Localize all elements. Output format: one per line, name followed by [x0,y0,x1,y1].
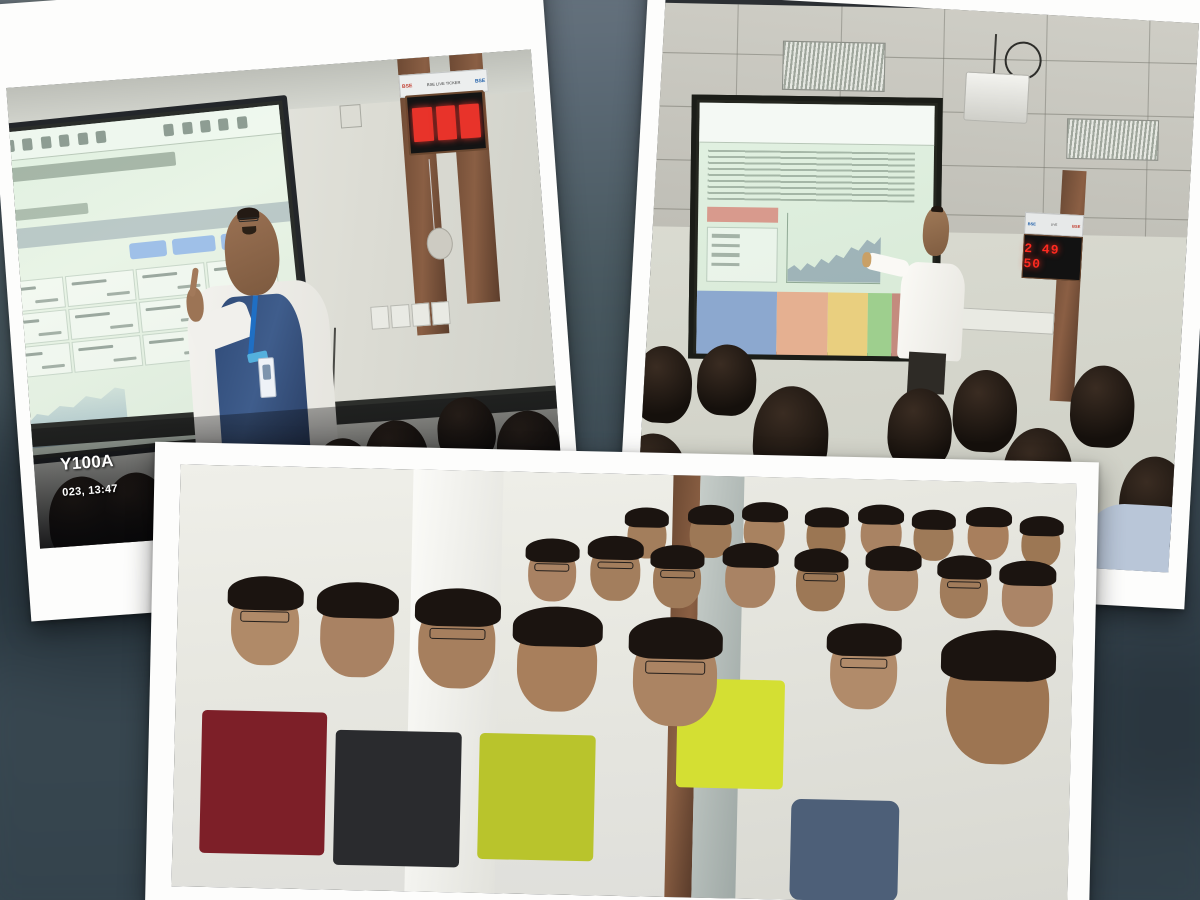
participant-front [321,590,394,592]
participant-front [420,596,497,598]
led-digit-2 [435,105,457,141]
participant [591,541,641,542]
participant [725,548,775,549]
participant [914,514,953,515]
participant [691,509,732,510]
backpack [790,798,900,900]
presenter-shirt [897,261,966,362]
participant-front [518,615,599,617]
chair [199,710,328,856]
report-section-header [708,206,779,222]
audience-shirt [1081,502,1199,573]
ceiling-vent [1066,119,1158,161]
collage-canvas: BSE Experience the new BSE BSE LIVE TICK… [0,0,1200,900]
chair [477,733,596,862]
participant [1022,521,1061,522]
participant [797,554,845,555]
ticker-label: BSE LIVE TICKER [427,80,461,87]
participant [861,509,902,510]
participant [1003,567,1053,568]
participant [807,512,846,513]
led-ticker-display [405,90,488,156]
presenter-pointing-hand [862,252,872,267]
presenter-glasses [239,217,259,223]
participant [528,544,576,545]
chair [333,729,461,867]
quote-button-1[interactable] [129,240,167,260]
participant [744,506,785,507]
led-clock-header: BSE LIVE BSE [1024,212,1084,237]
presenter-id-badge [258,357,277,398]
led-digit-3 [459,103,481,139]
background-pillar-3 [1102,634,1155,797]
presenter-hair [931,205,943,212]
participant [654,551,702,552]
presenter-beard [242,226,257,236]
document-toolbar [700,102,935,145]
line-chart [787,212,882,283]
presenter-figure [895,205,969,395]
participant-front [634,626,718,628]
participant [968,511,1009,512]
led-clock-display: 2 49 50 [1022,234,1083,281]
ticker-logo-right: BSE [475,78,486,85]
photo-frame-group-photo[interactable] [145,442,1099,900]
background-pillar-4 [1168,634,1200,797]
camera-watermark-model: Y100A [60,451,115,475]
participant [628,512,667,513]
led-digit-1 [412,106,434,142]
page-subtitle-blur [6,203,88,224]
report-paragraph [708,149,915,201]
treemap-block [867,293,892,358]
ceiling-vent [782,41,886,92]
group-photo-scene [171,464,1076,900]
ceiling-projector [964,71,1031,124]
wall-sign [340,104,363,129]
treemap-block [777,292,829,357]
presenter-head [221,207,281,297]
participant [940,561,988,562]
photo-image-group-photo [171,464,1076,900]
presenter-head [922,206,950,256]
ticker-logo-left: BSE [402,83,413,90]
participant-front [232,584,300,585]
participant [869,551,919,552]
treemap-block [827,292,868,357]
led-clock-value: 2 49 50 [1023,241,1081,274]
participant-front [831,630,897,631]
participant-front [948,641,1051,643]
report-table [707,226,778,282]
